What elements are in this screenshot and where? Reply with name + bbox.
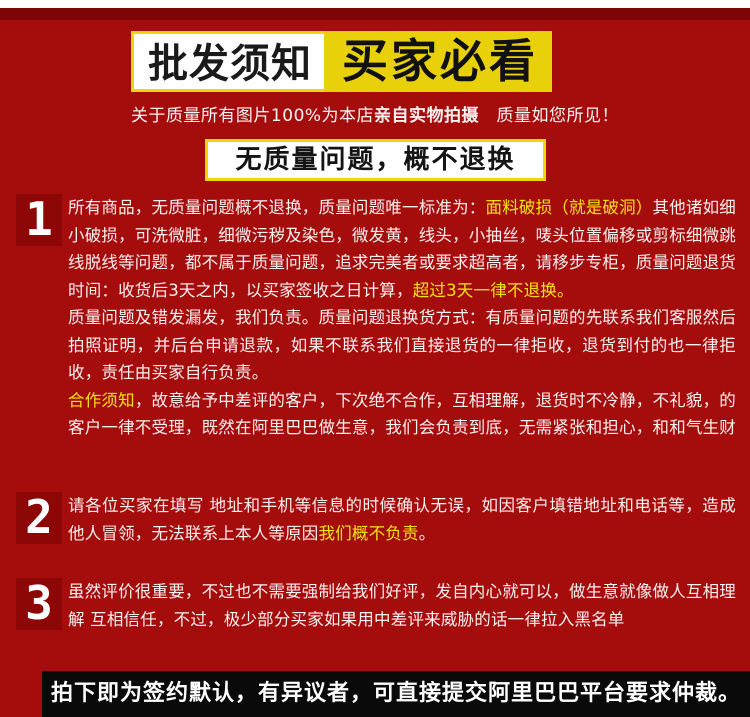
section-number-2: 2	[16, 492, 62, 544]
title-left-box: 批发须知	[131, 31, 324, 92]
body-text-run: 。	[419, 524, 436, 543]
poster-title: 批发须知 买家必看	[131, 31, 552, 92]
poster-body: 批发须知 买家必看 关于质量所有图片100%为本店亲自实物拍摄 质量如您所见！ …	[0, 8, 750, 717]
section-1-text: 所有商品，无质量问题概不退换，质量问题唯一标准为：面料破损（就是破洞）其他诸如细…	[68, 194, 736, 442]
body-text-run: 虽然评价很重要，不过也不需要强制给我们好评，发自内心就可以，做生意就像做人互相理…	[68, 582, 736, 629]
highlighted-text: 合作须知	[68, 391, 135, 410]
body-text-run: 所有商品，无质量问题概不退换，质量问题唯一标准为：	[68, 198, 486, 217]
headline-banner: 无质量问题，概不退换	[205, 139, 546, 181]
subtitle-bold: 亲自实物拍摄	[374, 106, 479, 126]
highlighted-text: 我们概不负责	[319, 524, 419, 543]
section-number-1: 1	[16, 194, 62, 246]
section-2-text: 请各位买家在填写 地址和手机等信息的时候确认无误，如因客户填错地址和电话等，造成…	[68, 492, 736, 547]
bottom-banner: 拍下即为签约默认，有异议者，可直接提交阿里巴巴平台要求仲裁。	[42, 671, 750, 717]
subtitle-suffix: 质量如您所见！	[479, 106, 619, 126]
body-text-run: 质量问题及错发漏发，我们负责。质量问题退换货方式：有质量问题的先联系我们客服然后…	[68, 308, 736, 382]
body-text-run: ，故意给予中差评的客户，下次绝不合作，互相理解，退货时不冷静，不礼貌，的客户一律…	[68, 391, 736, 438]
poster-root: 批发须知 买家必看 关于质量所有图片100%为本店亲自实物拍摄 质量如您所见！ …	[0, 0, 750, 717]
highlighted-text: 面料破损（就是破洞）	[486, 198, 653, 217]
section-number-3: 3	[16, 578, 62, 630]
title-right-box: 买家必看	[324, 31, 552, 92]
section-3-text: 虽然评价很重要，不过也不需要强制给我们好评，发自内心就可以，做生意就像做人互相理…	[68, 578, 736, 633]
subtitle-prefix: 关于质量所有图片100%为本店	[131, 106, 374, 126]
top-accent-band	[0, 8, 750, 20]
poster-subtitle: 关于质量所有图片100%为本店亲自实物拍摄 质量如您所见！	[0, 104, 750, 128]
highlighted-text: 超过3天一律不退换。	[413, 281, 574, 300]
